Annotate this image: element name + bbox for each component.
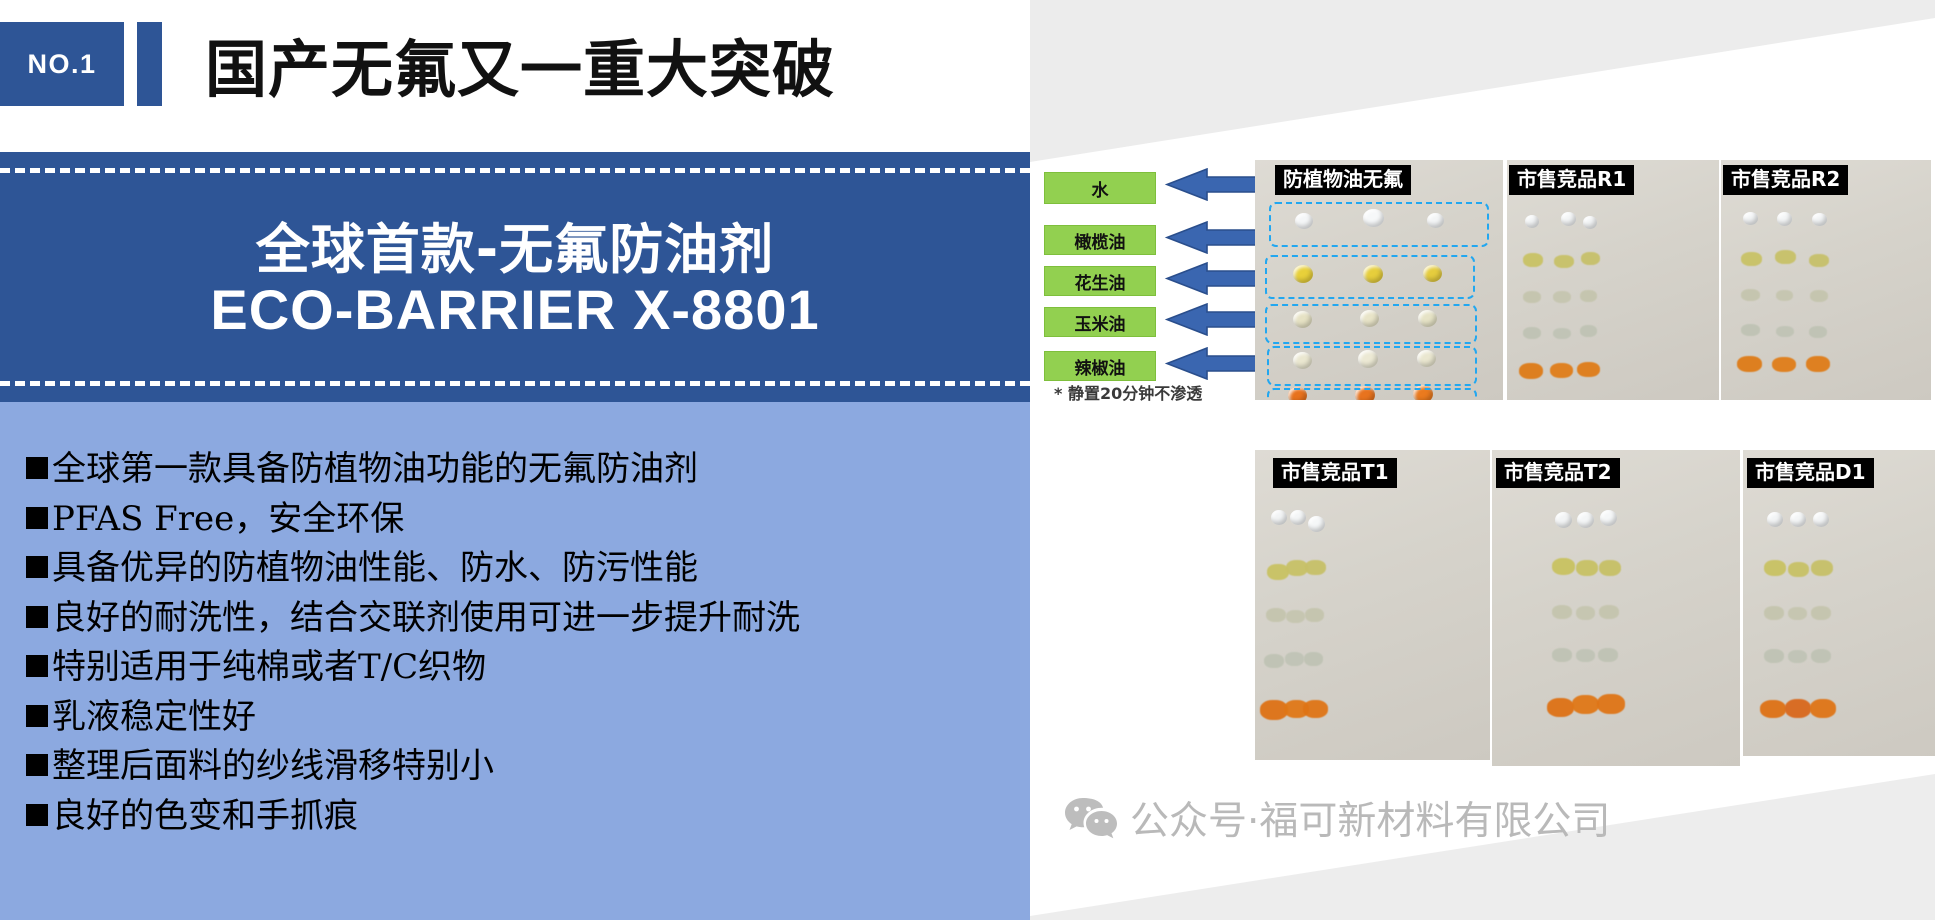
bullet-square-icon xyxy=(26,606,48,628)
legend-chip-peanut-oil: 花生油 xyxy=(1044,266,1156,296)
stain xyxy=(1785,699,1811,718)
legend-chip-water: 水 xyxy=(1044,172,1156,204)
list-item-label: 特别适用于纯棉或者T/C织物 xyxy=(52,646,486,690)
stain xyxy=(1572,695,1599,714)
list-item: PFAS Free，安全环保 xyxy=(26,498,1030,542)
stain xyxy=(1552,605,1572,619)
highlight-box xyxy=(1265,304,1477,344)
sample-panel-t1: 市售竞品T1 xyxy=(1255,450,1490,760)
stain xyxy=(1775,250,1796,264)
droplet xyxy=(1271,510,1287,525)
stain xyxy=(1788,562,1809,577)
stain xyxy=(1809,326,1827,338)
bullet-square-icon xyxy=(26,556,48,578)
stain xyxy=(1764,606,1784,620)
stain xyxy=(1772,357,1796,372)
droplet xyxy=(1767,512,1783,527)
droplet xyxy=(1777,212,1792,226)
stain xyxy=(1523,327,1541,339)
stain xyxy=(1550,363,1573,378)
legend-chip-corn-oil: 玉米油 xyxy=(1044,307,1156,337)
droplet xyxy=(1600,510,1617,526)
legend-chip-label: 橄榄油 xyxy=(1075,228,1126,253)
sample-panel-r2: 市售竞品R2 xyxy=(1721,160,1931,400)
stain xyxy=(1266,608,1286,622)
list-item: 具备优异的防植物油性能、防水、防污性能 xyxy=(26,547,1030,591)
stain xyxy=(1737,356,1762,372)
stain xyxy=(1811,649,1831,663)
stain xyxy=(1264,654,1284,668)
list-item-label: PFAS Free，安全环保 xyxy=(52,498,404,542)
droplet xyxy=(1743,212,1758,225)
legend-chip-label: 花生油 xyxy=(1075,269,1126,294)
hero-divider-top xyxy=(0,168,1030,173)
hero-title-chinese: 全球首款-无氟防油剂 xyxy=(256,220,774,280)
hero-banner: 全球首款-无氟防油剂 ECO-BARRIER X-8801 xyxy=(0,152,1030,402)
stain xyxy=(1553,328,1571,339)
droplet xyxy=(1290,510,1306,525)
stain xyxy=(1741,324,1760,336)
bullet-square-icon xyxy=(26,507,48,529)
hero-title-english: ECO-BARRIER X-8801 xyxy=(210,280,819,340)
list-item-label: 全球第一款具备防植物油功能的无氟防油剂 xyxy=(52,448,698,492)
stain xyxy=(1519,363,1543,379)
header-bar: NO.1 国产无氟又一重大突破 xyxy=(0,0,1030,152)
stain xyxy=(1806,356,1830,372)
sample-panel-tag: 市售竞品D1 xyxy=(1747,458,1874,488)
stain xyxy=(1581,252,1600,265)
sample-panel-tag: 市售竞品T2 xyxy=(1496,458,1620,488)
stain xyxy=(1764,649,1784,663)
stain xyxy=(1554,255,1574,268)
highlight-box xyxy=(1269,202,1489,247)
stain xyxy=(1811,606,1831,620)
stain xyxy=(1809,254,1829,267)
stain xyxy=(1576,560,1598,576)
list-item-label: 具备优异的防植物油性能、防水、防污性能 xyxy=(52,547,698,591)
stain xyxy=(1305,608,1324,622)
stain xyxy=(1741,252,1762,266)
stain xyxy=(1599,560,1621,576)
stain xyxy=(1598,648,1618,662)
droplet xyxy=(1555,512,1572,528)
droplet xyxy=(1790,512,1806,527)
stain xyxy=(1552,558,1575,575)
rank-badge-label: NO.1 xyxy=(27,49,96,80)
stain xyxy=(1760,700,1786,718)
list-item-label: 乳液稳定性好 xyxy=(52,696,256,740)
stain xyxy=(1788,607,1807,620)
stain xyxy=(1553,291,1571,303)
legend-chip-label: 辣椒油 xyxy=(1075,354,1126,379)
features-list: 全球第一款具备防植物油功能的无氟防油剂 PFAS Free，安全环保 具备优异的… xyxy=(0,430,1030,838)
sample-panel-t2: 市售竞品T2 xyxy=(1492,450,1740,766)
list-item: 乳液稳定性好 xyxy=(26,696,1030,740)
droplet xyxy=(1583,216,1597,229)
bullet-square-icon xyxy=(26,754,48,776)
stain xyxy=(1788,650,1807,663)
page-title: 国产无氟又一重大突破 xyxy=(205,18,1005,110)
droplet xyxy=(1813,512,1829,527)
test-results-column: 水 橄榄油 花生油 玉米油 xyxy=(1030,0,1935,920)
hero-divider-bottom xyxy=(0,381,1030,386)
header-accent-bar xyxy=(137,22,162,106)
stain xyxy=(1576,606,1595,620)
stain xyxy=(1776,326,1794,337)
watermark: 公众号·福可新材料有限公司 xyxy=(1064,790,1610,846)
sample-panel-tag: 市售竞品R2 xyxy=(1723,165,1848,195)
bullet-square-icon xyxy=(26,804,48,826)
stain xyxy=(1580,325,1597,337)
list-item-label: 良好的耐洗性，结合交联剂使用可进一步提升耐洗 xyxy=(52,597,800,641)
list-item: 全球第一款具备防植物油功能的无氟防油剂 xyxy=(26,448,1030,492)
list-item-label: 良好的色变和手抓痕 xyxy=(52,795,358,839)
legend-chip-label: 水 xyxy=(1092,176,1109,201)
stain xyxy=(1764,560,1786,576)
list-item: 整理后面料的纱线滑移特别小 xyxy=(26,745,1030,789)
bullet-square-icon xyxy=(26,457,48,479)
wechat-icon xyxy=(1064,796,1118,840)
stain xyxy=(1599,605,1619,619)
rank-badge: NO.1 xyxy=(0,22,124,106)
test-note: * 静置20分钟不渗透 xyxy=(1054,380,1284,404)
list-item: 特别适用于纯棉或者T/C织物 xyxy=(26,646,1030,690)
stain xyxy=(1552,648,1572,662)
bullet-square-icon xyxy=(26,655,48,677)
list-item-label: 整理后面料的纱线滑移特别小 xyxy=(52,745,494,789)
sample-panel-tag: 市售竞品T1 xyxy=(1273,458,1397,488)
stain xyxy=(1741,289,1760,301)
stain xyxy=(1811,560,1833,576)
stain xyxy=(1305,560,1326,575)
highlight-box xyxy=(1267,346,1477,386)
stain xyxy=(1577,362,1600,377)
stain xyxy=(1286,610,1305,623)
legend-chip-label: 玉米油 xyxy=(1075,310,1126,335)
stain xyxy=(1810,290,1828,302)
highlight-box xyxy=(1265,255,1475,299)
stain xyxy=(1597,694,1625,714)
highlight-box xyxy=(1267,388,1477,400)
legend-chip-olive-oil: 橄榄油 xyxy=(1044,225,1156,255)
stain xyxy=(1523,253,1543,267)
list-item: 良好的耐洗性，结合交联剂使用可进一步提升耐洗 xyxy=(26,597,1030,641)
stain xyxy=(1580,290,1597,302)
stain xyxy=(1547,698,1574,717)
droplet xyxy=(1561,212,1576,226)
stain xyxy=(1285,652,1304,666)
sample-panel-r1: 市售竞品R1 xyxy=(1507,160,1719,400)
sample-panel-tag: 市售竞品R1 xyxy=(1509,165,1634,195)
sample-panel-row-top: 防植物油无氟 市售竞品R1 xyxy=(1255,160,1931,400)
watermark-label: 公众号·福可新材料有限公司 xyxy=(1130,790,1610,846)
stain xyxy=(1810,699,1836,718)
stain xyxy=(1304,652,1323,666)
left-content-column: NO.1 国产无氟又一重大突破 全球首款-无氟防油剂 ECO-BARRIER X… xyxy=(0,0,1030,920)
droplet xyxy=(1308,516,1325,532)
stain xyxy=(1576,649,1595,662)
sample-panel-d1: 市售竞品D1 xyxy=(1743,450,1935,756)
stain xyxy=(1523,291,1541,303)
sample-panel-antioil: 防植物油无氟 xyxy=(1255,160,1503,400)
sample-panel-tag: 防植物油无氟 xyxy=(1275,165,1411,195)
legend-chip-chili-oil: 辣椒油 xyxy=(1044,351,1156,381)
stain xyxy=(1776,290,1793,301)
droplet xyxy=(1812,213,1827,226)
features-panel: 全球第一款具备防植物油功能的无氟防油剂 PFAS Free，安全环保 具备优异的… xyxy=(0,402,1030,920)
droplet xyxy=(1525,215,1539,228)
droplet xyxy=(1577,512,1594,528)
stain xyxy=(1303,700,1328,718)
sample-panel-row-bottom: 市售竞品T1 市售竞品T2 xyxy=(1255,450,1935,766)
hero-text-group: 全球首款-无氟防油剂 ECO-BARRIER X-8801 xyxy=(0,200,1030,360)
list-item: 良好的色变和手抓痕 xyxy=(26,795,1030,839)
bullet-square-icon xyxy=(26,705,48,727)
